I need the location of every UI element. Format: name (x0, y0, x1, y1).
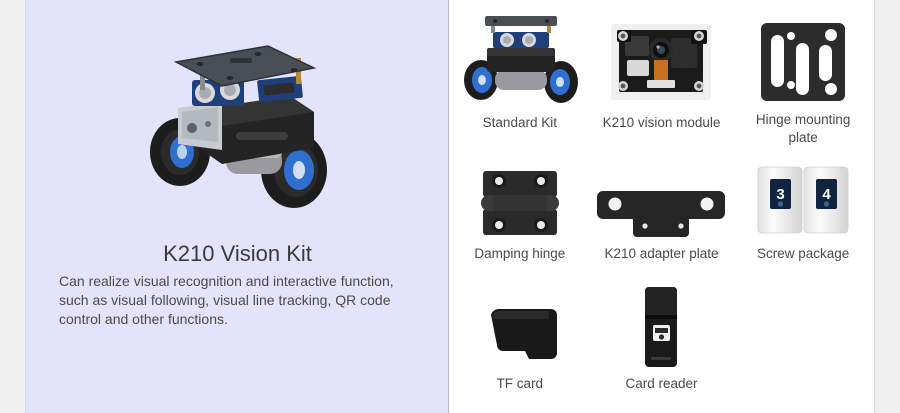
screw-package-icon: 3 4 (754, 163, 852, 239)
component-label: Damping hinge (474, 245, 565, 263)
tf-card-icon (477, 307, 563, 369)
screw-package-image: 3 4 (733, 155, 873, 239)
damping-hinge-icon (477, 167, 563, 239)
hinge-mounting-plate-icon (757, 19, 849, 105)
adapter-plate-icon (595, 185, 727, 239)
hero-image-balance-robot (26, 18, 449, 230)
component-cell-screw-package[interactable]: 3 4 Screw package (732, 147, 874, 277)
product-detail-page: K210 Vision Kit Can realize visual recog… (0, 0, 900, 413)
component-cell-tf-card[interactable]: TF card (449, 277, 591, 405)
component-label: K210 adapter plate (604, 245, 718, 263)
component-label: Screw package (757, 245, 849, 263)
screw-bag-number: 3 (776, 186, 784, 203)
tf-card-image (450, 285, 590, 369)
component-label: Card reader (625, 375, 697, 393)
component-label: Standard Kit (483, 114, 557, 132)
component-cell-k210-adapter-plate[interactable]: K210 adapter plate (591, 147, 733, 277)
component-label: TF card (497, 375, 544, 393)
adapter-plate-image (591, 155, 731, 239)
content-card: K210 Vision Kit Can realize visual recog… (25, 0, 875, 413)
card-reader-image (591, 285, 731, 369)
components-grid: Standard Kit (449, 0, 874, 413)
balance-robot-icon (457, 8, 583, 108)
feature-panel: K210 Vision Kit Can realize visual recog… (26, 0, 449, 413)
balance-robot-icon (118, 24, 358, 224)
vision-module-icon (609, 16, 713, 108)
feature-description: Can realize visual recognition and inter… (59, 272, 421, 329)
component-label: Hinge mounting plate (743, 111, 863, 147)
screw-bag-number: 4 (822, 186, 831, 203)
component-cell-hinge-mounting-plate[interactable]: Hinge mounting plate (732, 0, 874, 147)
component-cell-card-reader[interactable]: Card reader (591, 277, 733, 405)
component-label: K210 vision module (603, 114, 721, 132)
standard-kit-image (450, 8, 590, 108)
damping-hinge-image (450, 155, 590, 239)
card-reader-icon (637, 285, 685, 369)
hinge-mounting-plate-image (733, 8, 873, 105)
component-cell-k210-vision-module[interactable]: K210 vision module (591, 0, 733, 147)
component-cell-standard-kit[interactable]: Standard Kit (449, 0, 591, 147)
vision-module-board-image (591, 8, 731, 108)
feature-title: K210 Vision Kit (26, 240, 449, 268)
component-cell-damping-hinge[interactable]: Damping hinge (449, 147, 591, 277)
